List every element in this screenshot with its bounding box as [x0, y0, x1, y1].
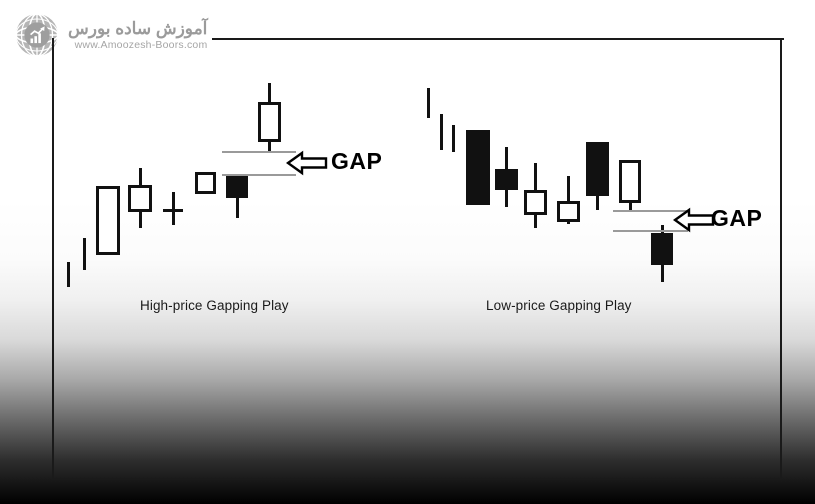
content-frame-top-rule — [212, 38, 784, 40]
chart-title-high-price: High-price Gapping Play — [140, 298, 289, 313]
chart-title-low-price: Low-price Gapping Play — [486, 298, 632, 313]
content-frame-border — [52, 38, 782, 480]
logo-persian-name: آموزش ساده بورس — [68, 19, 207, 39]
left-arrow-icon — [286, 150, 328, 181]
gap-label-left: GAP — [331, 148, 382, 175]
gap-label-right: GAP — [711, 205, 762, 232]
screenshot-root: آموزش ساده بورس www.Amoozesh-Boors.com G… — [0, 0, 815, 504]
right-arrow-icon — [673, 207, 715, 238]
